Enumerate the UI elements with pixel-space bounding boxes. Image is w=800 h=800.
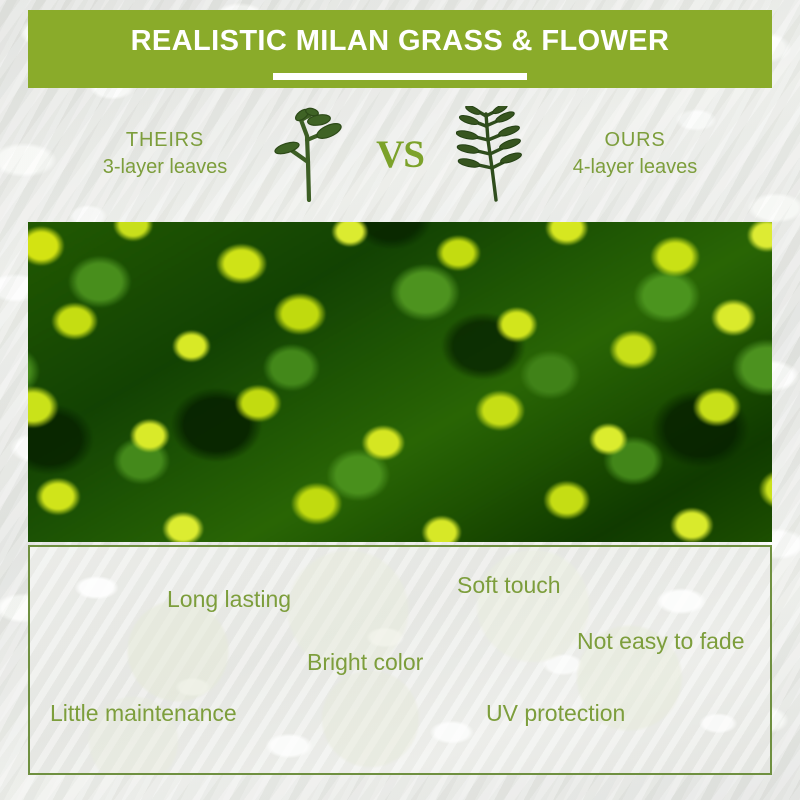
theirs-title: THEIRS — [126, 127, 204, 154]
foliage-texture — [28, 222, 772, 542]
title-underline-rule — [273, 73, 527, 80]
comparison-theirs-label: THEIRS 3-layer leaves — [67, 127, 263, 181]
ours-subtitle: 4-layer leaves — [573, 154, 698, 181]
features-box: Long lasting Soft touch Not easy to fade… — [28, 545, 772, 775]
versus-badge: VS — [355, 135, 445, 174]
feature-little-maintenance: Little maintenance — [50, 702, 237, 725]
theirs-sprig-icon — [263, 106, 355, 202]
ours-sprig-icon — [445, 106, 537, 202]
ours-title: OURS — [605, 127, 666, 154]
feature-bright-color: Bright color — [307, 651, 423, 674]
feature-soft-touch: Soft touch — [457, 574, 561, 597]
feature-long-lasting: Long lasting — [167, 588, 291, 611]
header-banner: REALISTIC MILAN GRASS & FLOWER — [28, 10, 772, 88]
comparison-ours-label: OURS 4-layer leaves — [537, 127, 733, 181]
feature-not-easy-to-fade: Not easy to fade — [577, 630, 745, 653]
theirs-subtitle: 3-layer leaves — [103, 154, 228, 181]
page-title: REALISTIC MILAN GRASS & FLOWER — [131, 27, 670, 56]
comparison-row: THEIRS 3-layer leaves VS — [0, 96, 800, 212]
product-photo — [28, 222, 772, 542]
feature-uv-protection: UV protection — [486, 702, 625, 725]
